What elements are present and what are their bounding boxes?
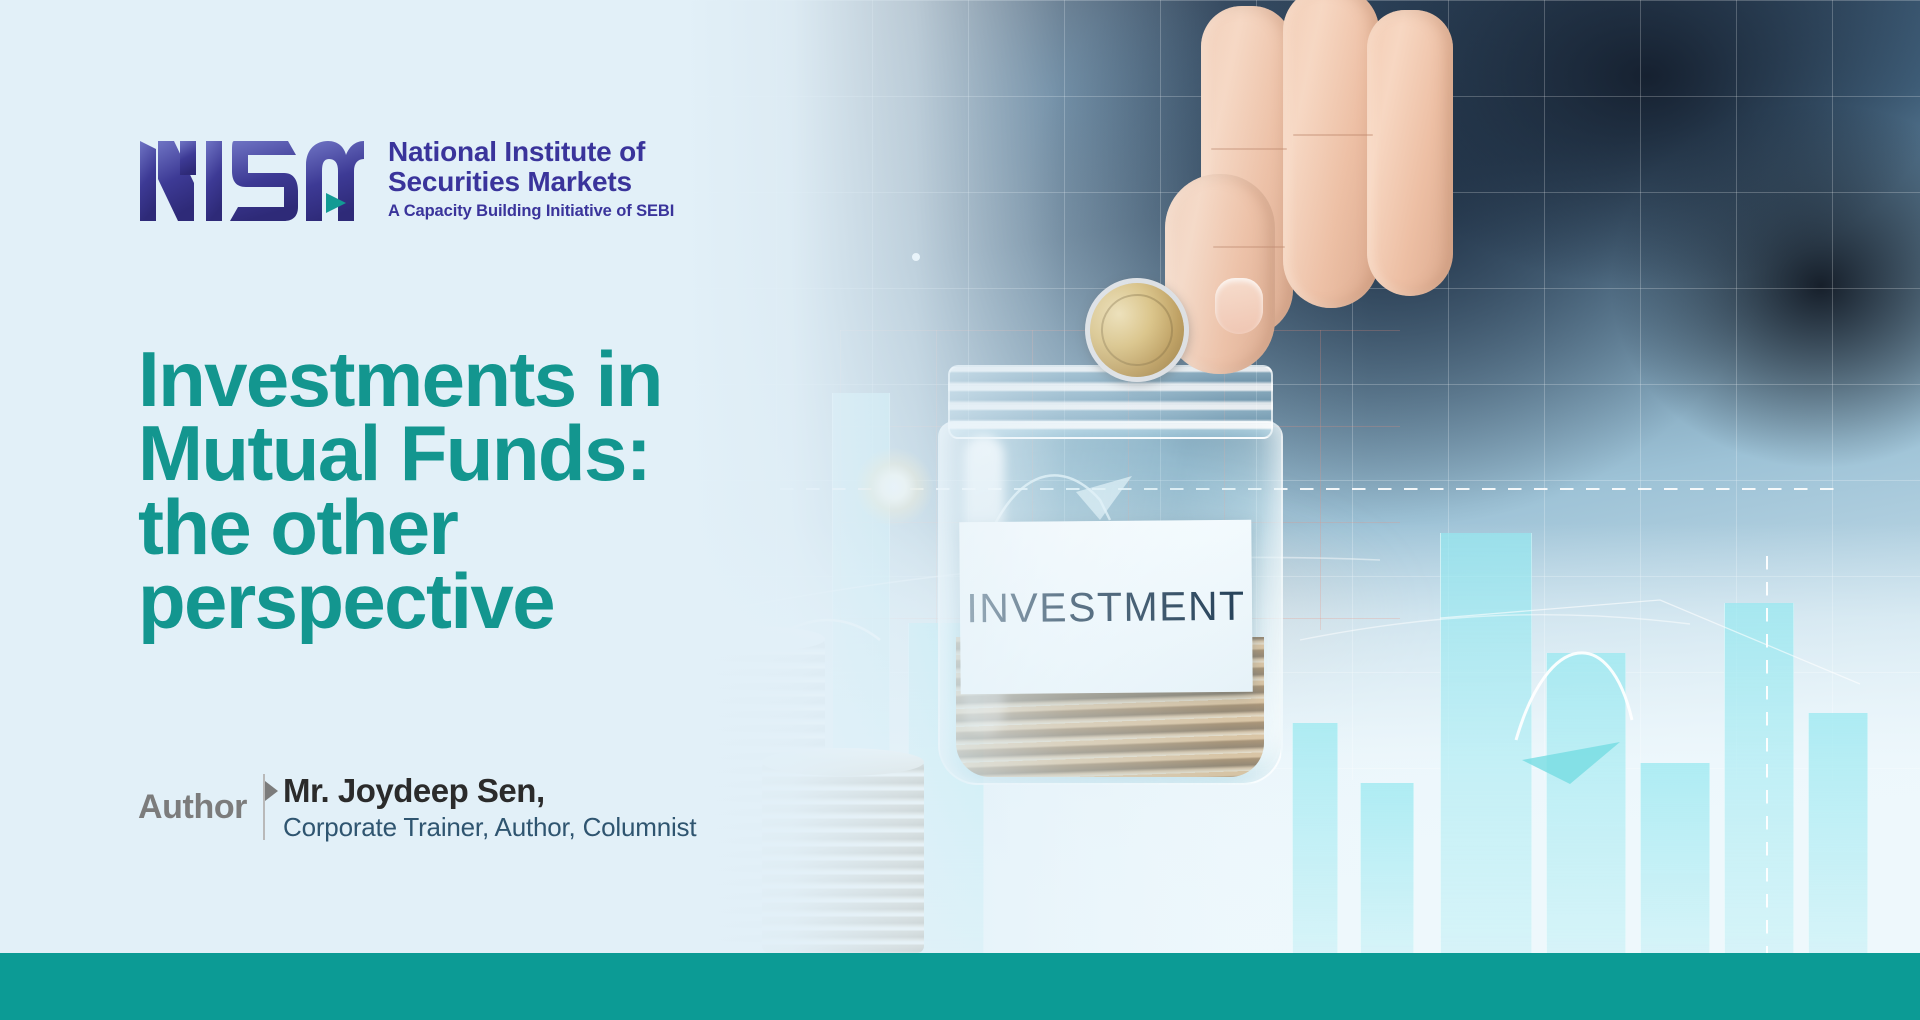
- nism-logo-mark: [138, 135, 366, 227]
- author-block: Author Mr. Joydeep Sen, Corporate Traine…: [138, 772, 696, 843]
- author-role: Corporate Trainer, Author, Columnist: [283, 812, 696, 843]
- title-line-2: Mutual Funds:: [138, 416, 788, 490]
- nism-logo[interactable]: National Institute of Securities Markets…: [138, 135, 674, 227]
- author-label: Author: [138, 788, 247, 827]
- logo-line-2: Securities Markets: [388, 167, 674, 197]
- footer-accent-bar: [0, 953, 1920, 1020]
- promo-banner: INVESTMENT: [0, 0, 1920, 1020]
- title-line-1: Investments in: [138, 342, 788, 416]
- title-line-3: the other: [138, 490, 788, 564]
- photo-left-fade: [680, 0, 1920, 953]
- nism-logo-text: National Institute of Securities Markets…: [388, 135, 674, 221]
- logo-tagline: A Capacity Building Initiative of SEBI: [388, 202, 674, 221]
- author-name: Mr. Joydeep Sen,: [283, 772, 696, 810]
- banner-content: National Institute of Securities Markets…: [138, 0, 758, 953]
- title-line-4: perspective: [138, 564, 788, 638]
- triangle-marker-icon: [265, 781, 278, 801]
- author-separator: [247, 774, 279, 840]
- logo-line-1: National Institute of: [388, 137, 674, 167]
- investment-photo: INVESTMENT: [680, 0, 1920, 953]
- page-title: Investments in Mutual Funds: the other p…: [138, 342, 788, 638]
- author-info: Mr. Joydeep Sen, Corporate Trainer, Auth…: [279, 772, 696, 843]
